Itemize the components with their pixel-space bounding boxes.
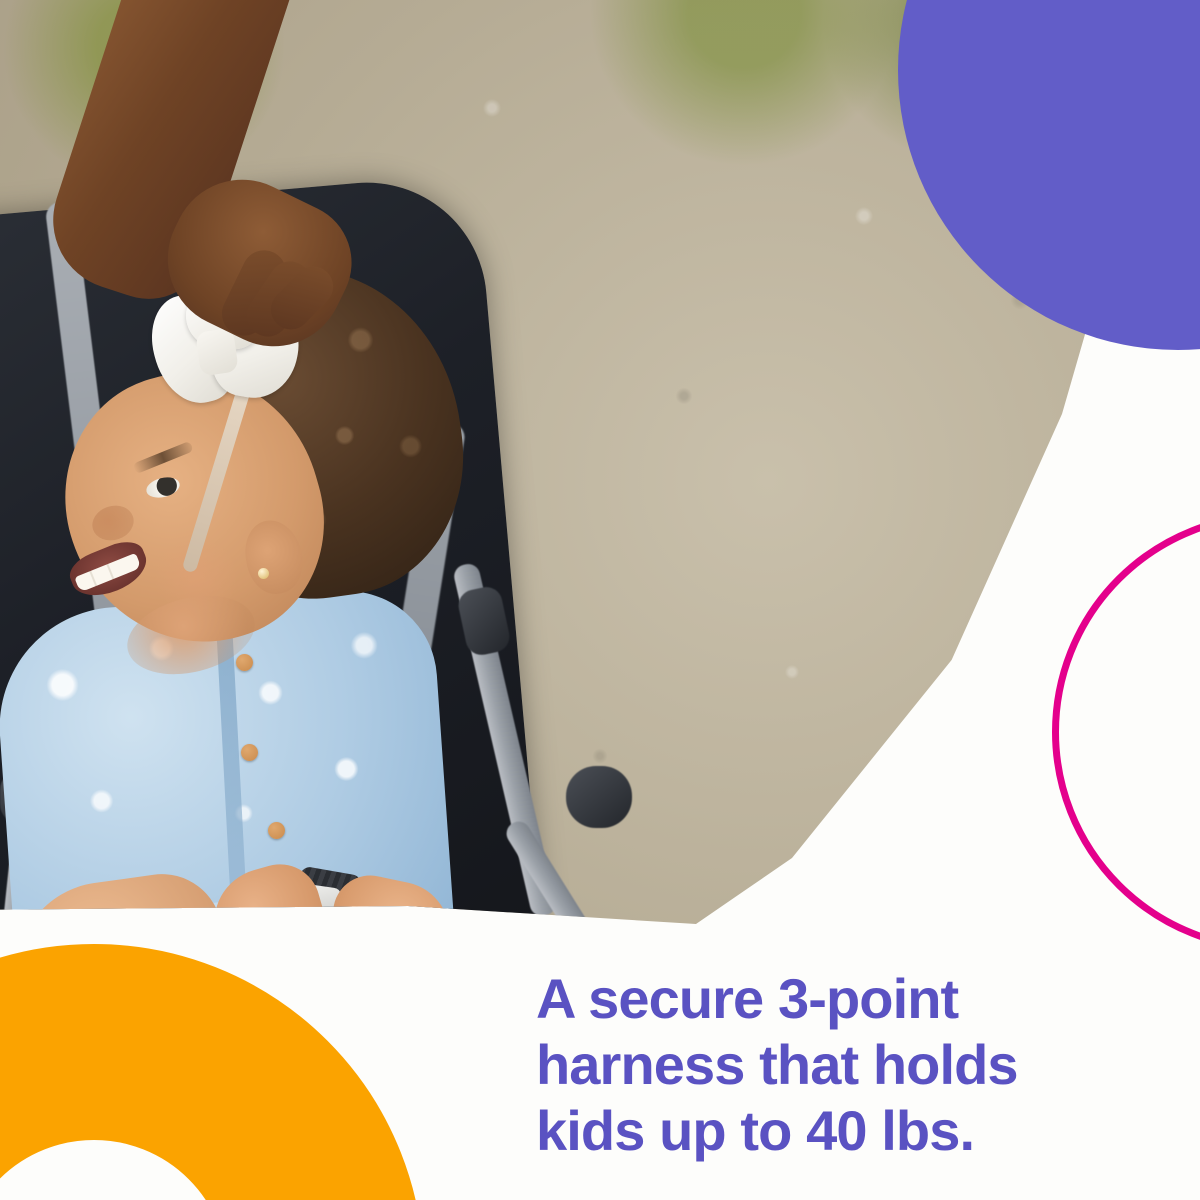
magenta-ring-decoration [1052, 512, 1200, 952]
feature-card: A secure 3-point harness that holds kids… [0, 0, 1200, 1200]
toddler-earring [258, 568, 269, 579]
stroller-joint-hinge [566, 766, 632, 828]
bow-knot [195, 328, 239, 377]
shirt-button [236, 654, 253, 671]
shirt-button [241, 744, 258, 761]
shirt-button [268, 822, 285, 839]
orange-ring-decoration [0, 944, 424, 1200]
headline-text: A secure 3-point harness that holds kids… [536, 966, 1136, 1164]
